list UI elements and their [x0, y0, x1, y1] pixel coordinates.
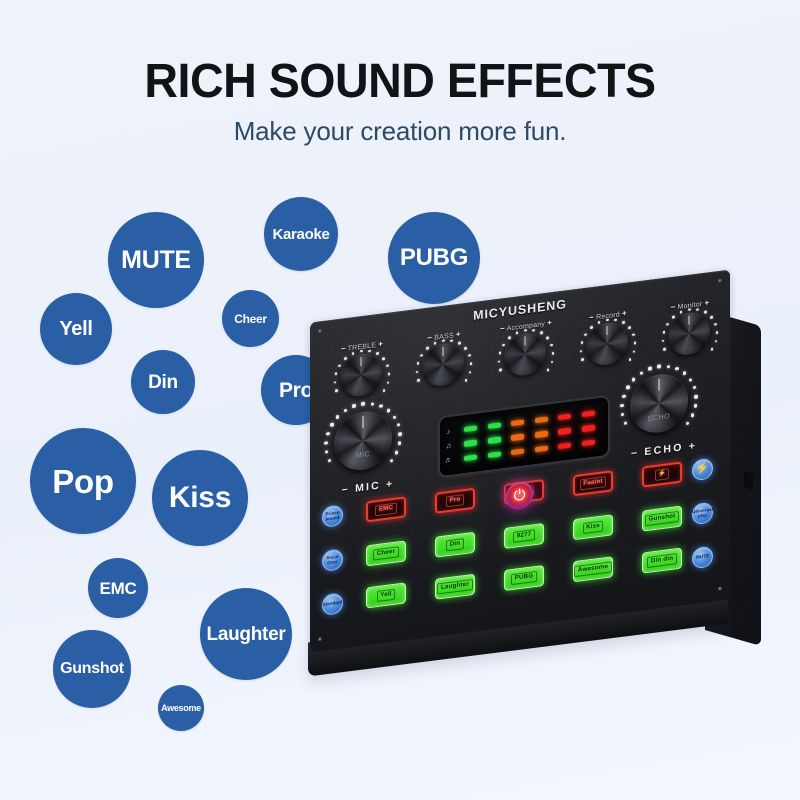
bubble-emc: EMC [88, 558, 148, 618]
panel-screw [318, 637, 322, 642]
pad-cheer[interactable]: Cheer [366, 540, 406, 566]
panel-screw [718, 586, 722, 591]
bubble-laughter: Laughter [200, 588, 292, 680]
pad-label: Laughter [437, 579, 472, 595]
pad-label: Yell [377, 589, 395, 603]
led-segment-r1-c2 [511, 434, 524, 441]
pad-label: Cheer [373, 546, 399, 560]
pad-laughter[interactable]: Laughter [435, 574, 475, 600]
sound-card-device: MICYUSHENG − TREBLE +− BASS +− Accompany… [300, 286, 770, 706]
pad-label: Pro [446, 494, 464, 507]
pad-yell[interactable]: Yell [366, 582, 406, 608]
pad-label: Awesome [574, 561, 611, 577]
led-segment-r2-c5 [582, 439, 595, 446]
pad-din-din[interactable]: Din din [642, 548, 682, 574]
pad-faaint[interactable]: Faaint [573, 470, 613, 496]
led-segment-r2-c2 [511, 448, 524, 455]
led-row-icon-0: ♪ [447, 428, 451, 436]
led-segment-r1-c0 [464, 440, 477, 447]
pad-label: Gunshot [645, 511, 679, 526]
knob-record[interactable]: − Record + [572, 306, 644, 377]
bubble-kiss: Kiss [152, 450, 248, 546]
device-top-panel: MICYUSHENG − TREBLE +− BASS +− Accompany… [310, 269, 730, 652]
mic-plus: + [386, 478, 394, 491]
mic-volume-knob[interactable]: MIC − MIC + [324, 401, 420, 499]
pad-label: ⚡ [655, 468, 670, 481]
page-title: RICH SOUND EFFECTS [12, 54, 788, 109]
led-segment-r0-c1 [488, 422, 501, 429]
led-segment-r2-c0 [464, 454, 477, 461]
device-side-port [744, 471, 753, 490]
pad-awesome[interactable]: Awesome [573, 556, 613, 582]
pad-label: PUBG [511, 571, 537, 585]
knob-bass[interactable]: − BASS + [408, 327, 480, 398]
bubble-din: Din [131, 350, 195, 414]
led-level-display: ♪♫♬ [438, 395, 610, 479]
knob-treble[interactable]: − TREBLE + [326, 337, 398, 408]
pad-din[interactable]: Din [435, 532, 475, 558]
led-row-icon-2: ♬ [445, 456, 453, 464]
pad-⚡[interactable]: ⚡ [642, 462, 682, 488]
pad-gunshot[interactable]: Gunshot [642, 506, 682, 532]
bubble-karaoke: Karaoke [264, 197, 338, 271]
led-indicator-grid [457, 397, 608, 474]
power-icon: ⏻ [514, 487, 526, 504]
led-segment-r1-c4 [558, 428, 571, 435]
bubble-pop: Pop [30, 428, 136, 534]
echo-plus: + [689, 440, 697, 453]
led-segment-r0-c0 [464, 425, 477, 432]
led-segment-r1-c1 [488, 437, 501, 444]
bubble-cheer: Cheer [222, 290, 279, 347]
led-segment-r2-c3 [535, 445, 548, 452]
page-subtitle: Make your creation more fun. [0, 116, 800, 147]
pad-kiss[interactable]: Kiss [573, 514, 613, 540]
product-banner: RICH SOUND EFFECTS Make your creation mo… [0, 0, 800, 800]
led-segment-r1-c3 [535, 431, 548, 438]
led-segment-r1-c5 [582, 425, 595, 432]
pad-pubg[interactable]: PUBG [504, 565, 544, 591]
bubble-gunshot: Gunshot [53, 630, 131, 708]
pad-label: Kiss [583, 520, 604, 534]
led-display-icons: ♪♫♬ [440, 416, 457, 476]
pad-pro[interactable]: Pro [435, 488, 475, 514]
pad-emc[interactable]: EMC [366, 496, 406, 522]
pad-label: Din [446, 538, 464, 551]
mic-minus: − [342, 483, 350, 496]
pad-label: Din din [647, 553, 676, 568]
mic-name: MIC [355, 480, 381, 495]
pad-label: Faaint [580, 476, 606, 491]
bubble-awesome: Awesome [158, 685, 204, 731]
bubble-mute: MUTE [108, 212, 204, 308]
pad-9277[interactable]: 9277 [504, 523, 544, 549]
led-segment-r0-c3 [535, 416, 548, 423]
led-segment-r0-c4 [558, 413, 571, 420]
knob-accompany[interactable]: − Accompany + [490, 317, 562, 388]
led-segment-r0-c5 [582, 410, 595, 417]
led-segment-r2-c4 [558, 442, 571, 449]
led-segment-r2-c1 [488, 451, 501, 458]
led-row-icon-1: ♫ [446, 442, 452, 450]
echo-minus: − [631, 447, 639, 460]
bubble-yell: Yell [40, 293, 112, 365]
pad-label: EMC [375, 502, 396, 516]
echo-volume-knob[interactable]: ECHO − ECHO + [620, 363, 716, 461]
pad-label: 9277 [513, 529, 535, 543]
led-segment-r0-c2 [511, 419, 524, 426]
knob-monitor[interactable]: − Monitor + [654, 296, 726, 367]
